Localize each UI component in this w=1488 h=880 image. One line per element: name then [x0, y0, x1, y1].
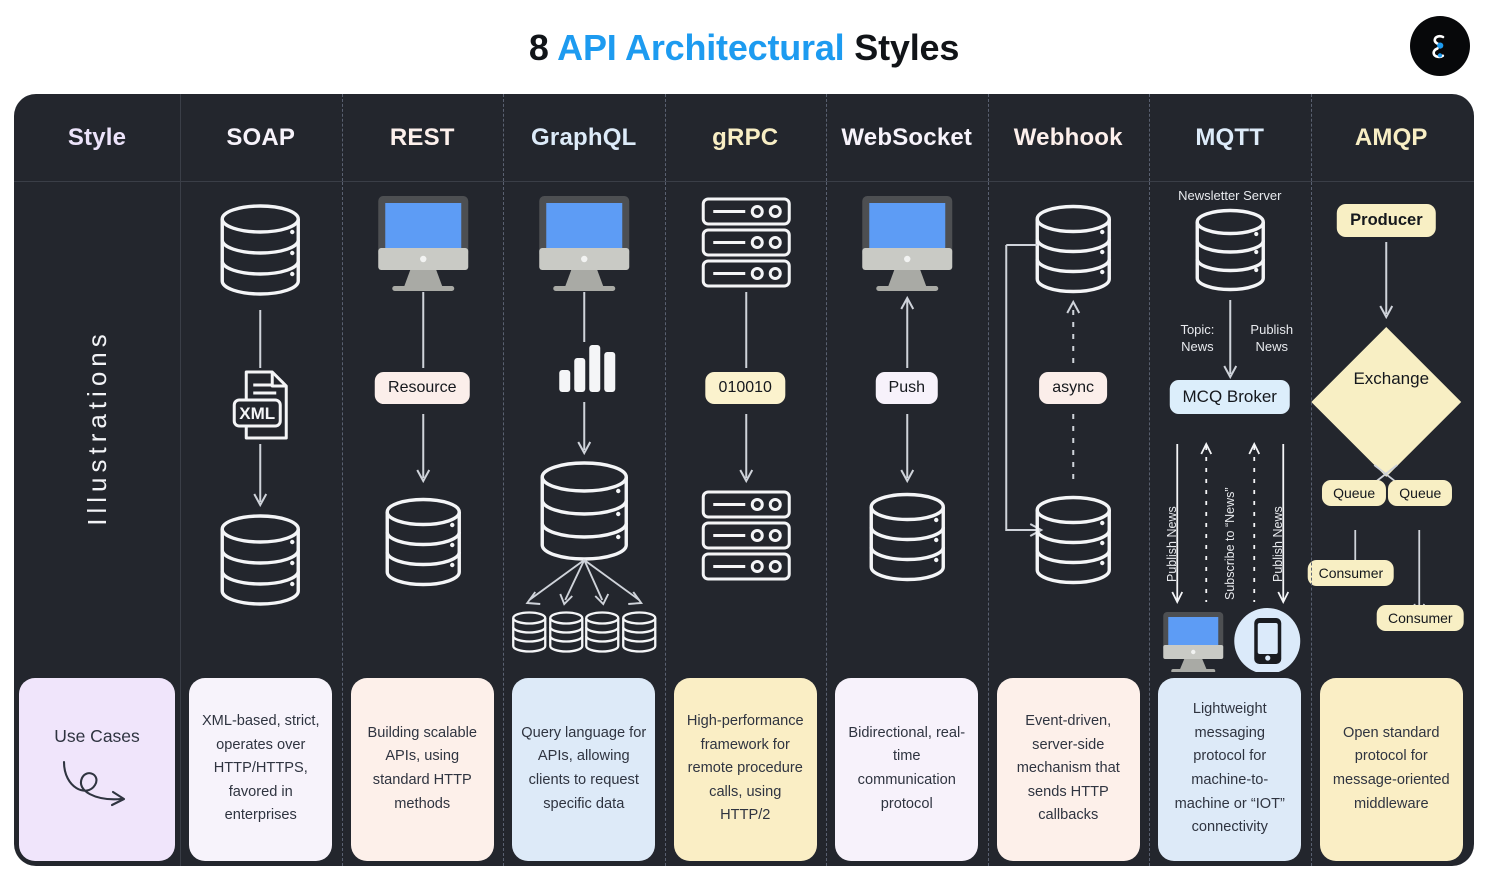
use-case-graphql-text: Query language for APIs, allowing client…	[521, 722, 646, 817]
column-rest: Resource Building scalable APIs, using s…	[342, 182, 504, 866]
column-amqp: Producer Exchange Queue Queue Consumer C…	[1311, 182, 1473, 866]
phone-icon	[1234, 608, 1300, 672]
use-case-rest-text: Building scalable APIs, using standard H…	[360, 722, 485, 817]
amqp-consumer-right: Consumer	[1377, 605, 1464, 631]
svg-text:XML: XML	[239, 404, 275, 423]
header-rest-label: REST	[390, 124, 455, 152]
header-soap-label: SOAP	[226, 124, 295, 152]
grpc-diagram	[665, 182, 827, 672]
bar-chart-icon	[559, 345, 615, 392]
body-divider-3	[665, 182, 666, 866]
soap-diagram: XML	[180, 182, 342, 672]
header-webhook: Webhook	[988, 94, 1150, 182]
use-case-card-grpc: High-performance framework for remote pr…	[674, 678, 817, 861]
header-rest: REST	[342, 94, 504, 182]
s-logo-icon	[1421, 27, 1459, 65]
header-mqtt: MQTT	[1149, 94, 1311, 182]
body-divider-solid	[180, 182, 181, 866]
header-websocket-label: WebSocket	[841, 124, 972, 152]
table-header-row: Style SOAP REST GraphQL gRPC WebSocket W…	[14, 94, 1474, 182]
infographic-page: 8 API Architectural Styles Style SOAP RE…	[0, 0, 1488, 880]
mqtt-topic-line2: News	[1180, 339, 1214, 356]
grpc-binary-pill: 010010	[706, 372, 785, 404]
header-divider-5	[988, 94, 989, 181]
header-divider-1	[342, 94, 343, 181]
mqtt-server-label: Newsletter Server	[1178, 188, 1281, 205]
curved-arrow-icon	[51, 754, 143, 816]
rest-diagram	[342, 182, 504, 672]
rest-use-case: Building scalable APIs, using standard H…	[342, 672, 504, 866]
column-style: Illustrations Use Cases	[14, 182, 180, 866]
body-divider-6	[1149, 182, 1150, 866]
amqp-illustration: Producer Exchange Queue Queue Consumer C…	[1311, 182, 1473, 672]
use-case-grpc-text: High-performance framework for remote pr…	[683, 710, 808, 828]
soap-illustration: XML	[180, 182, 342, 672]
use-case-card-style: Use Cases	[19, 678, 175, 861]
rest-illustration: Resource	[342, 182, 504, 672]
header-grpc-label: gRPC	[712, 124, 778, 152]
amqp-exchange-label: Exchange	[1353, 369, 1429, 388]
amqp-queue-left: Queue	[1322, 480, 1386, 506]
body-divider-5	[988, 182, 989, 866]
header-amqp: AMQP	[1311, 94, 1473, 182]
webhook-use-case: Event-driven, server-side mechanism that…	[988, 672, 1150, 866]
header-divider-4	[826, 94, 827, 181]
amqp-queue-right: Queue	[1388, 480, 1452, 506]
mqtt-topic-line1: Topic:	[1180, 322, 1214, 339]
monitor-icon	[1163, 612, 1223, 672]
use-case-card-graphql: Query language for APIs, allowing client…	[512, 678, 655, 861]
column-mqtt: Newsletter Server Topic: News Publish Ne…	[1149, 182, 1311, 866]
amqp-exchange-node: Exchange	[1353, 369, 1429, 389]
mqtt-publish-line1: Publish	[1250, 322, 1293, 339]
title-bar: 8 API Architectural Styles	[0, 0, 1488, 96]
body-divider-1	[342, 182, 343, 866]
mqtt-publish-label: Publish News	[1250, 322, 1293, 356]
webhook-async-pill: async	[1039, 372, 1107, 404]
body-divider-4	[826, 182, 827, 866]
header-websocket: WebSocket	[826, 94, 988, 182]
header-divider-6	[1149, 94, 1150, 181]
use-case-card-soap: XML-based, strict, operates over HTTP/HT…	[189, 678, 332, 861]
mqtt-mid-flow-label: Subscribe to “News”	[1223, 487, 1237, 600]
use-case-amqp-text: Open standard protocol for message-orien…	[1329, 722, 1454, 817]
header-style: Style	[14, 94, 180, 182]
mqtt-right-flow-label: Publish News	[1271, 506, 1285, 582]
use-case-card-mqtt: Lightweight messaging protocol for machi…	[1158, 678, 1301, 861]
monitor-icon	[539, 196, 629, 291]
column-websocket: Push Bidirectional, real-time communicat…	[826, 182, 988, 866]
amqp-diagram	[1311, 182, 1473, 672]
illustrations-row-label: Illustrations	[14, 182, 180, 672]
use-case-websocket-text: Bidirectional, real-time communication p…	[844, 722, 969, 817]
monitor-icon	[862, 196, 952, 291]
header-grpc: gRPC	[665, 94, 827, 182]
use-cases-row-label: Use Cases	[14, 672, 180, 866]
soap-use-case: XML-based, strict, operates over HTTP/HT…	[180, 672, 342, 866]
header-soap: SOAP	[180, 94, 342, 182]
mqtt-broker-pill: MCQ Broker	[1170, 380, 1290, 414]
header-graphql-label: GraphQL	[531, 124, 636, 152]
grpc-use-case: High-performance framework for remote pr…	[665, 672, 827, 866]
title-pre: 8	[529, 27, 557, 68]
mqtt-illustration: Newsletter Server Topic: News Publish Ne…	[1149, 182, 1311, 672]
column-grpc: 010010 High-performance framework for re…	[665, 182, 827, 866]
page-title: 8 API Architectural Styles	[529, 27, 959, 69]
websocket-push-pill: Push	[876, 372, 938, 404]
mqtt-topic-label: Topic: News	[1180, 322, 1214, 356]
header-divider-3	[665, 94, 666, 181]
webhook-illustration: async	[988, 182, 1150, 672]
mqtt-use-case: Lightweight messaging protocol for machi…	[1149, 672, 1311, 866]
use-case-webhook-text: Event-driven, server-side mechanism that…	[1006, 710, 1131, 828]
header-divider-solid	[180, 94, 181, 181]
brand-logo[interactable]	[1410, 16, 1470, 76]
header-amqp-label: AMQP	[1355, 124, 1428, 152]
header-graphql: GraphQL	[503, 94, 665, 182]
use-case-card-webhook: Event-driven, server-side mechanism that…	[997, 678, 1140, 861]
amqp-consumer-left: Consumer	[1308, 560, 1395, 586]
mqtt-left-flow-label: Publish News	[1165, 506, 1179, 582]
amqp-producer-node: Producer	[1337, 204, 1435, 237]
comparison-board: Style SOAP REST GraphQL gRPC WebSocket W…	[14, 94, 1474, 866]
use-case-soap-text: XML-based, strict, operates over HTTP/HT…	[198, 710, 323, 828]
table-body: Illustrations Use Cases	[14, 182, 1474, 866]
small-databases	[513, 613, 655, 652]
use-case-mqtt-text: Lightweight messaging protocol for machi…	[1167, 698, 1292, 840]
websocket-use-case: Bidirectional, real-time communication p…	[826, 672, 988, 866]
header-style-label: Style	[68, 124, 126, 152]
use-case-card-websocket: Bidirectional, real-time communication p…	[835, 678, 978, 861]
grpc-illustration: 010010	[665, 182, 827, 672]
use-case-card-amqp: Open standard protocol for message-orien…	[1320, 678, 1463, 861]
amqp-use-case: Open standard protocol for message-orien…	[1311, 672, 1473, 866]
column-graphql: Query language for APIs, allowing client…	[503, 182, 665, 866]
use-cases-title: Use Cases	[54, 722, 140, 750]
mqtt-publish-line2: News	[1250, 339, 1293, 356]
websocket-illustration: Push	[826, 182, 988, 672]
use-case-card-rest: Building scalable APIs, using standard H…	[351, 678, 494, 861]
body-divider-7	[1311, 182, 1312, 866]
server-rack-icon	[703, 199, 789, 286]
body-divider-2	[503, 182, 504, 866]
graphql-illustration	[503, 182, 665, 672]
graphql-diagram	[503, 182, 665, 672]
header-divider-2	[503, 94, 504, 181]
monitor-icon	[378, 196, 468, 291]
illustrations-label-text: Illustrations	[82, 329, 113, 526]
column-soap: XML XML-based, strict, operates over H	[180, 182, 342, 866]
title-post: Styles	[844, 27, 959, 68]
header-mqtt-label: MQTT	[1195, 124, 1264, 152]
server-rack-icon	[703, 492, 789, 579]
header-webhook-label: Webhook	[1014, 124, 1123, 152]
rest-resource-pill: Resource	[375, 372, 469, 404]
header-divider-7	[1311, 94, 1312, 181]
websocket-diagram	[826, 182, 988, 672]
title-accent: API Architectural	[557, 27, 844, 68]
webhook-diagram	[988, 182, 1150, 672]
column-webhook: async Event-driven, server-side mechanis…	[988, 182, 1150, 866]
graphql-use-case: Query language for APIs, allowing client…	[503, 672, 665, 866]
